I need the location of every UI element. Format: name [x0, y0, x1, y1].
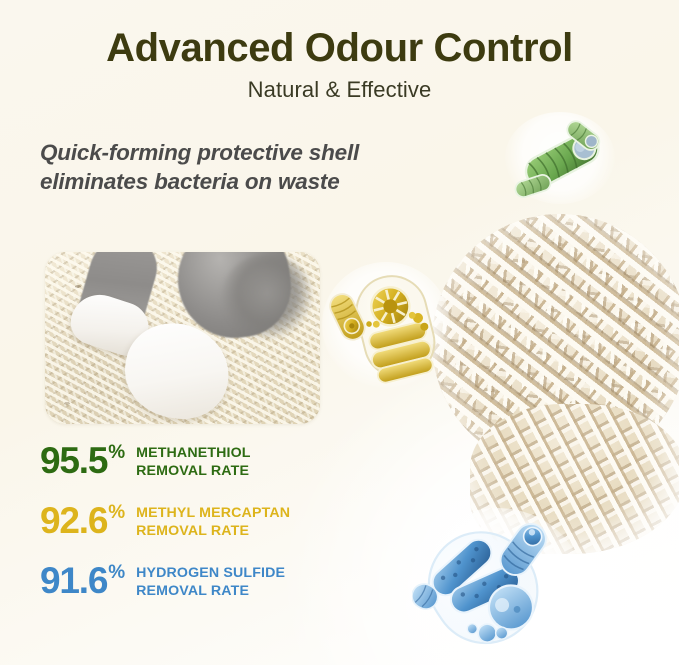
stat-number-text: 95.5: [40, 442, 107, 479]
stat-label-line1: HYDROGEN SULFIDE: [136, 565, 285, 583]
stat-value: 95.5 %: [40, 442, 125, 479]
page-title: Advanced Odour Control: [0, 27, 679, 69]
stat-percent-sign: %: [108, 443, 125, 462]
stat-label-line2: REMOVAL RATE: [136, 583, 285, 601]
stat-percent-sign: %: [108, 563, 125, 582]
stat-label: METHYL MERCAPTAN REMOVAL RATE: [136, 505, 290, 540]
removal-rate-stats: 95.5 % METHANETHIOL REMOVAL RATE 92.6 % …: [40, 442, 380, 623]
header: Advanced Odour Control Natural & Effecti…: [0, 0, 679, 103]
cat-paws-photo: [45, 252, 320, 424]
stat-label: METHANETHIOL REMOVAL RATE: [136, 445, 251, 480]
yellow-bacteria-illustration: [322, 262, 450, 388]
stat-value: 92.6 %: [40, 502, 125, 539]
stat-number-text: 91.6: [40, 562, 107, 599]
green-bacteria-illustration: [505, 112, 615, 204]
stat-label-line1: METHANETHIOL: [136, 445, 251, 463]
stat-percent-sign: %: [108, 503, 125, 522]
claim-text: Quick-forming protective shell eliminate…: [40, 138, 395, 197]
cat-fur-tuft: [221, 254, 313, 340]
stat-row-methanethiol: 95.5 % METHANETHIOL REMOVAL RATE: [40, 442, 380, 480]
stat-label: HYDROGEN SULFIDE REMOVAL RATE: [136, 565, 285, 600]
stat-row-hydrogen-sulfide: 91.6 % HYDROGEN SULFIDE REMOVAL RATE: [40, 562, 380, 600]
page-subtitle: Natural & Effective: [0, 77, 679, 103]
stat-row-methyl-mercaptan: 92.6 % METHYL MERCAPTAN REMOVAL RATE: [40, 502, 380, 540]
stat-value: 91.6 %: [40, 562, 125, 599]
product-infographic: Advanced Odour Control Natural & Effecti…: [0, 0, 679, 665]
blue-bacteria-illustration: [412, 508, 582, 658]
stat-label-line2: REMOVAL RATE: [136, 463, 251, 481]
stat-number-text: 92.6: [40, 502, 107, 539]
stat-label-line1: METHYL MERCAPTAN: [136, 505, 290, 523]
stat-label-line2: REMOVAL RATE: [136, 523, 290, 541]
